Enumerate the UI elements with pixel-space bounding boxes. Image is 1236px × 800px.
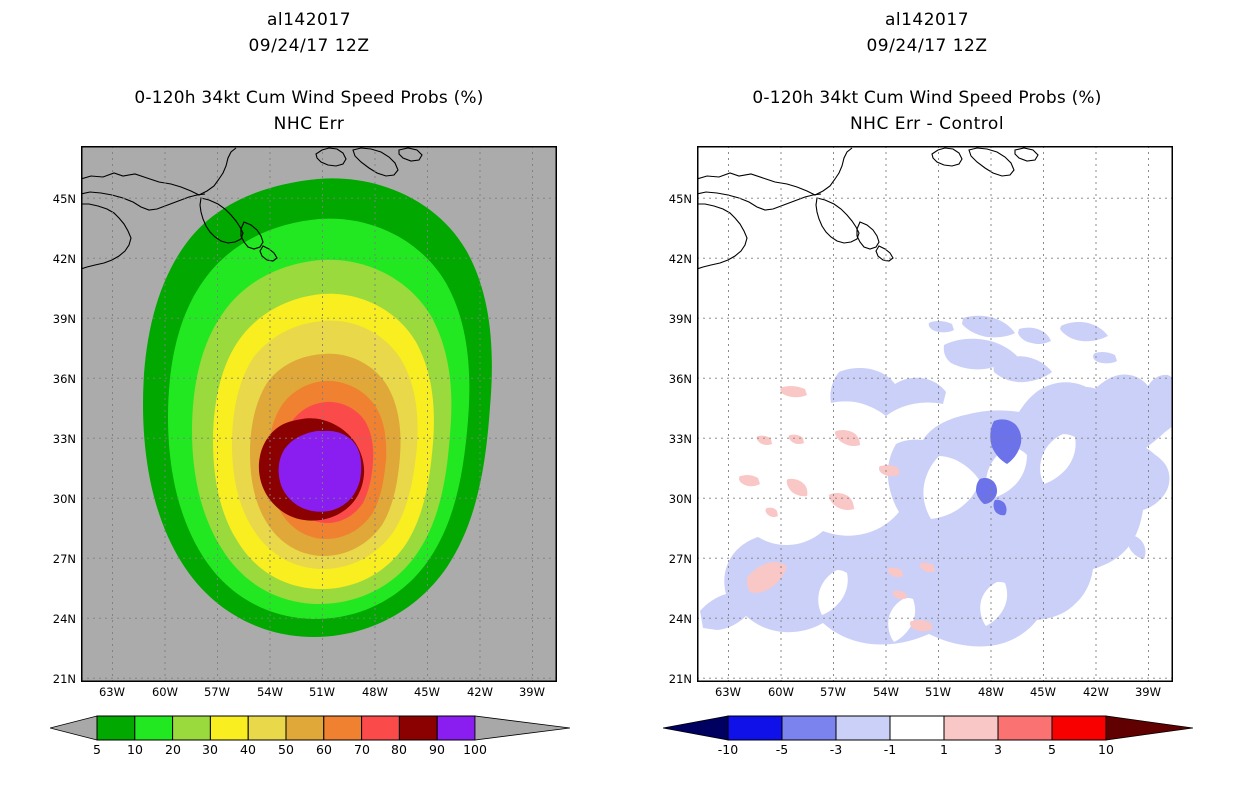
lat-tick-45n: 45N — [36, 192, 76, 206]
cb-tick-neg5: -5 — [762, 742, 802, 757]
date-label-right: 09/24/17 12Z — [618, 36, 1236, 56]
cb-tick-10: 10 — [115, 742, 155, 757]
lon-tick-39w: 39W — [512, 685, 552, 699]
lon-tick-54w: 54W — [250, 685, 290, 699]
lon-tick-42w: 42W — [460, 685, 500, 699]
cb-tick-neg1: -1 — [870, 742, 910, 757]
lat-tick-30n-right: 30N — [652, 492, 692, 506]
lat-tick-42n: 42N — [36, 252, 76, 266]
lon-tick-57w: 57W — [197, 685, 237, 699]
difference-colorbar: -10 -5 -3 -1 1 3 5 10 — [663, 714, 1193, 746]
cb-tick-20: 20 — [153, 742, 193, 757]
lon-tick-63w-right: 63W — [708, 685, 748, 699]
lat-tick-24n-right: 24N — [652, 612, 692, 626]
chart-subtitle-left: NHC Err — [0, 114, 618, 134]
cb-tick-neg3: -3 — [816, 742, 856, 757]
cb-tick-80: 80 — [379, 742, 419, 757]
lon-tick-51w: 51W — [302, 685, 342, 699]
cb-tick-100: 100 — [455, 742, 495, 757]
cb-under-arrow-left — [50, 716, 97, 740]
lon-tick-60w-right: 60W — [761, 685, 801, 699]
map-plot-left — [81, 146, 557, 682]
probability-colorbar-svg — [50, 714, 570, 742]
cb-tick-5: 5 — [77, 742, 117, 757]
cb-tick-40: 40 — [228, 742, 268, 757]
lon-tick-45w-right: 45W — [1023, 685, 1063, 699]
chart-subtitle-right: NHC Err - Control — [618, 114, 1236, 134]
cb-tick-pos3: 3 — [978, 742, 1018, 757]
lat-tick-36n: 36N — [36, 372, 76, 386]
cb-over-arrow-left — [475, 716, 570, 740]
date-label-left: 09/24/17 12Z — [0, 36, 618, 56]
lat-tick-27n-right: 27N — [652, 552, 692, 566]
contour-100 — [279, 431, 362, 512]
cb-tick-90: 90 — [417, 742, 457, 757]
lat-tick-24n: 24N — [36, 612, 76, 626]
map-svg-left — [81, 146, 557, 682]
lat-tick-39n-right: 39N — [652, 312, 692, 326]
lon-tick-39w-right: 39W — [1128, 685, 1168, 699]
contour-rings-left — [143, 178, 492, 637]
panel-nhc-err-minus-control: al142017 09/24/17 12Z 0-120h 34kt Cum Wi… — [618, 0, 1236, 800]
storm-id-left: al142017 — [0, 10, 618, 30]
lon-tick-51w-right: 51W — [918, 685, 958, 699]
lat-tick-27n: 27N — [36, 552, 76, 566]
lat-tick-45n-right: 45N — [652, 192, 692, 206]
map-plot-right — [697, 146, 1173, 682]
lon-tick-60w: 60W — [145, 685, 185, 699]
probability-colorbar: 5 10 20 30 40 50 60 70 80 90 100 — [50, 714, 570, 746]
cb-tick-60: 60 — [304, 742, 344, 757]
lat-tick-33n-right: 33N — [652, 432, 692, 446]
cb-tick-pos10: 10 — [1086, 742, 1126, 757]
map-svg-right — [697, 146, 1173, 682]
lat-tick-30n: 30N — [36, 492, 76, 506]
storm-id-right: al142017 — [618, 10, 1236, 30]
lat-tick-33n: 33N — [36, 432, 76, 446]
lon-tick-57w-right: 57W — [813, 685, 853, 699]
chart-title-right: 0-120h 34kt Cum Wind Speed Probs (%) — [618, 88, 1236, 108]
lat-tick-36n-right: 36N — [652, 372, 692, 386]
lon-tick-54w-right: 54W — [866, 685, 906, 699]
lat-tick-42n-right: 42N — [652, 252, 692, 266]
lon-tick-48w-right: 48W — [971, 685, 1011, 699]
cb-tick-50: 50 — [266, 742, 306, 757]
lat-tick-39n: 39N — [36, 312, 76, 326]
cb-under-arrow-right — [663, 716, 728, 740]
lat-tick-21n-right: 21N — [652, 672, 692, 686]
lon-tick-63w: 63W — [92, 685, 132, 699]
lon-tick-42w-right: 42W — [1076, 685, 1116, 699]
chart-title-left: 0-120h 34kt Cum Wind Speed Probs (%) — [0, 88, 618, 108]
lon-tick-45w: 45W — [407, 685, 447, 699]
lat-tick-21n: 21N — [36, 672, 76, 686]
panel-nhc-err: al142017 09/24/17 12Z 0-120h 34kt Cum Wi… — [0, 0, 618, 800]
cb-tick-pos1: 1 — [924, 742, 964, 757]
cb-tick-70: 70 — [342, 742, 382, 757]
cb-tick-pos5: 5 — [1032, 742, 1072, 757]
difference-colorbar-svg — [663, 714, 1193, 742]
cb-over-arrow-right — [1106, 716, 1193, 740]
cb-tick-neg10: -10 — [708, 742, 748, 757]
cb-tick-30: 30 — [190, 742, 230, 757]
lon-tick-48w: 48W — [355, 685, 395, 699]
